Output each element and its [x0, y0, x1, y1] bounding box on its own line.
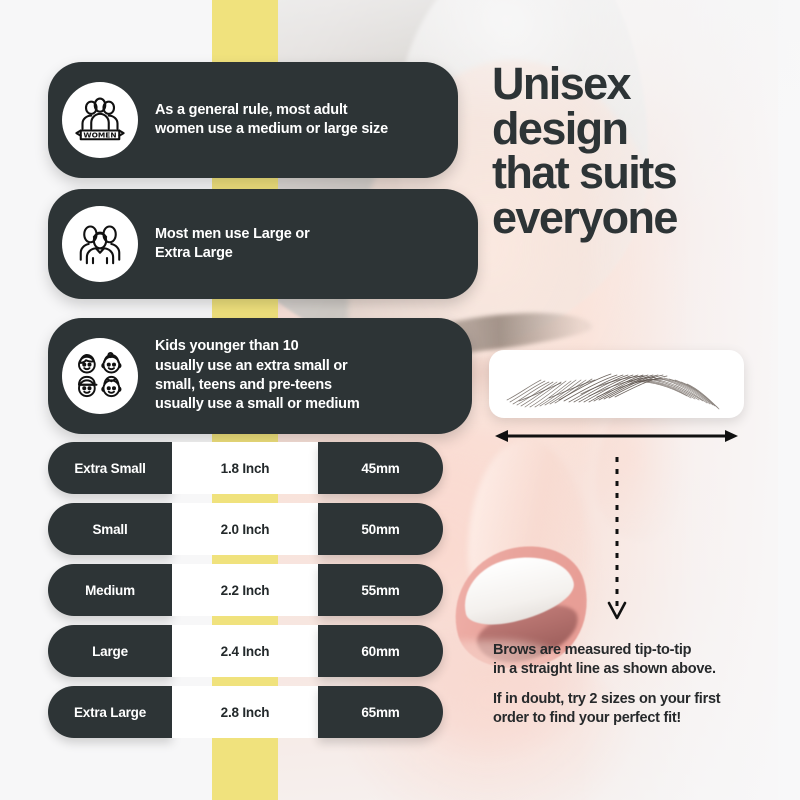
size-mm-cell: 60mm [318, 625, 443, 677]
measure-note-line-1: Brows are measured tip-to-tip [493, 641, 793, 660]
size-mm-cell: 50mm [318, 503, 443, 555]
size-inches-cell: 2.8 Inch [172, 686, 318, 738]
card-line: Extra Large [155, 244, 310, 263]
size-name-value: Medium [85, 583, 135, 598]
women-group-icon: WOMEN [62, 82, 138, 158]
table-row[interactable]: Medium 2.2 Inch 55mm [48, 564, 443, 616]
size-name-value: Extra Large [74, 705, 146, 720]
card-line: Kids younger than 10 [155, 337, 360, 356]
size-inches-value: 2.8 Inch [221, 705, 270, 720]
info-card-men-text: Most men use Large or Extra Large [155, 225, 310, 264]
size-inches-cell: 2.4 Inch [172, 625, 318, 677]
sizing-tip-note: If in doubt, try 2 sizes on your first o… [493, 690, 793, 728]
size-name-cell: Medium [48, 564, 172, 616]
card-line: usually use an extra small or [155, 357, 360, 376]
card-line: As a general rule, most adult [155, 101, 388, 120]
table-row[interactable]: Large 2.4 Inch 60mm [48, 625, 443, 677]
table-row[interactable]: Extra Large 2.8 Inch 65mm [48, 686, 443, 738]
size-name-cell: Extra Small [48, 442, 172, 494]
size-name-cell: Extra Large [48, 686, 172, 738]
eyebrow-illustration [489, 350, 744, 418]
size-name-cell: Large [48, 625, 172, 677]
size-name-value: Extra Small [74, 461, 145, 476]
size-inches-cell: 2.2 Inch [172, 564, 318, 616]
info-card-women-text: As a general rule, most adult women use … [155, 101, 388, 140]
table-row[interactable]: Extra Small 1.8 Inch 45mm [48, 442, 443, 494]
size-mm-cell: 65mm [318, 686, 443, 738]
card-line: usually use a small or medium [155, 395, 360, 414]
size-name-value: Large [92, 644, 128, 659]
info-card-men: Most men use Large or Extra Large [48, 189, 478, 299]
measure-note-line-2: in a straight line as shown above. [493, 660, 793, 679]
page-title: Unisex design that suits everyone [492, 62, 792, 240]
size-mm-cell: 55mm [318, 564, 443, 616]
size-mm-cell: 45mm [318, 442, 443, 494]
size-inches-cell: 1.8 Inch [172, 442, 318, 494]
headline-line-3: that suits [492, 151, 792, 196]
card-line: Most men use Large or [155, 225, 310, 244]
size-mm-value: 55mm [361, 583, 399, 598]
table-row[interactable]: Small 2.0 Inch 50mm [48, 503, 443, 555]
card-line: women use a medium or large size [155, 120, 388, 139]
kids-faces-icon [62, 338, 138, 414]
size-inches-value: 1.8 Inch [221, 461, 270, 476]
measure-note: Brows are measured tip-to-tip in a strai… [493, 641, 793, 679]
size-inches-value: 2.2 Inch [221, 583, 270, 598]
size-mm-value: 65mm [361, 705, 399, 720]
info-card-kids: Kids younger than 10 usually use an extr… [48, 318, 472, 434]
size-name-cell: Small [48, 503, 172, 555]
size-mm-value: 45mm [361, 461, 399, 476]
svg-text:WOMEN: WOMEN [83, 131, 116, 140]
headline-line-1: Unisex [492, 62, 792, 107]
size-mm-value: 60mm [361, 644, 399, 659]
sizing-tip-line-1: If in doubt, try 2 sizes on your first [493, 690, 793, 709]
headline-line-4: everyone [492, 196, 792, 241]
card-line: small, teens and pre-teens [155, 376, 360, 395]
men-group-icon [62, 206, 138, 282]
size-mm-value: 50mm [361, 522, 399, 537]
headline-line-2: design [492, 107, 792, 152]
tip-to-tip-measure-arrow [495, 428, 738, 444]
dashed-down-arrow-icon [600, 455, 634, 625]
size-inches-cell: 2.0 Inch [172, 503, 318, 555]
info-card-kids-text: Kids younger than 10 usually use an extr… [155, 337, 360, 414]
size-inches-value: 2.0 Inch [221, 522, 270, 537]
size-name-value: Small [92, 522, 127, 537]
size-inches-value: 2.4 Inch [221, 644, 270, 659]
eyebrow-sample-card [489, 350, 744, 418]
sizing-tip-line-2: order to find your perfect fit! [493, 709, 793, 728]
infographic-canvas: WOMEN As a general rule, most adult wome… [0, 0, 800, 800]
info-card-women: WOMEN As a general rule, most adult wome… [48, 62, 458, 178]
